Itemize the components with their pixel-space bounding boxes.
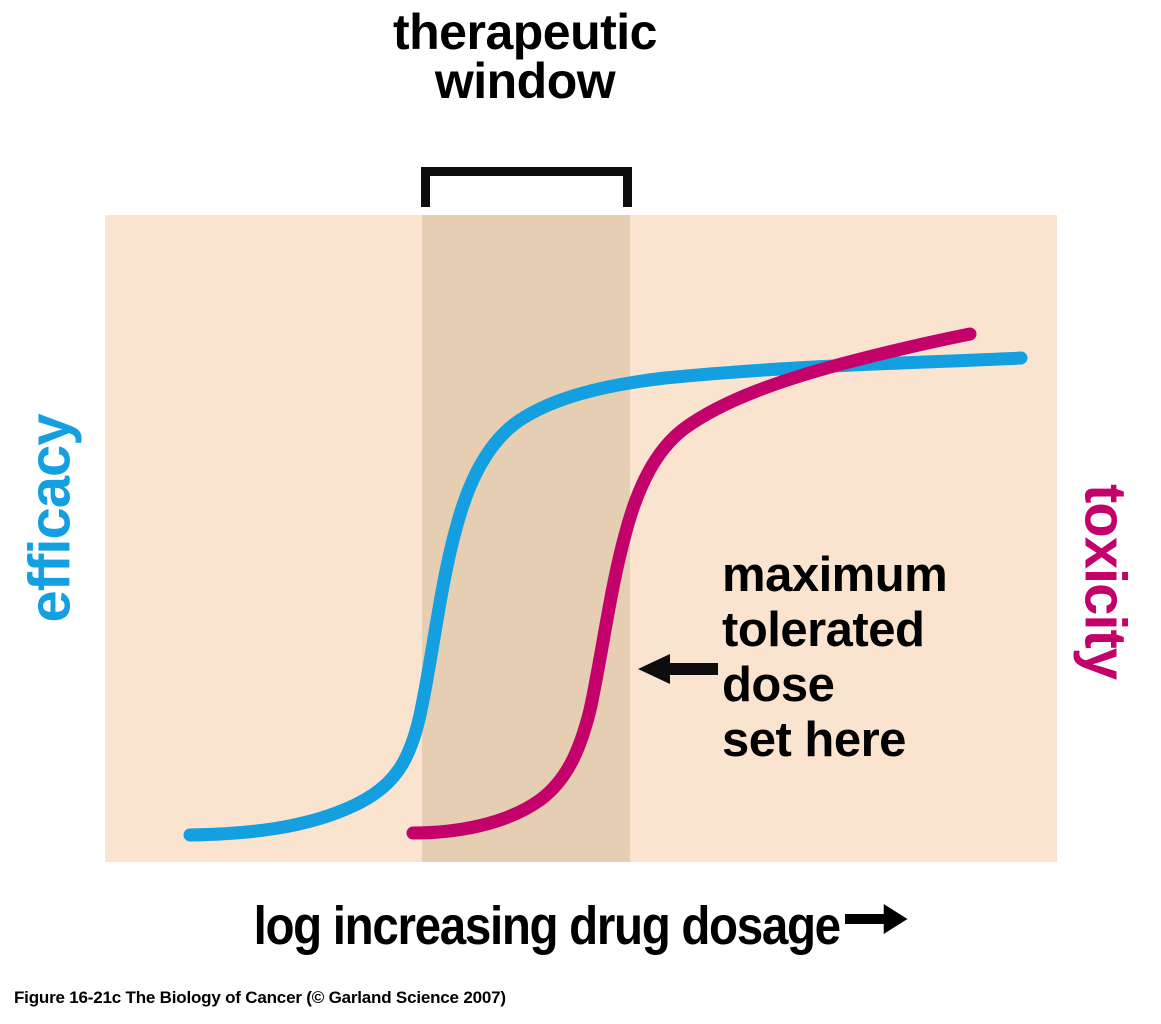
mtd-annotation-line-2: tolerated — [722, 603, 1042, 658]
axis-label-toxicity: toxicity — [1072, 452, 1139, 712]
mtd-annotation-line-3: dose — [722, 658, 1042, 713]
figure-container: therapeutic window efficacy toxicity max… — [0, 0, 1161, 1024]
axis-label-efficacy: efficacy — [17, 389, 84, 649]
figure-credit: Figure 16-21c The Biology of Cancer (© G… — [14, 988, 506, 1008]
title-line-2: window — [290, 57, 760, 106]
x-axis-caption: log increasing drug dosage — [162, 885, 1000, 957]
figure-title: therapeutic window — [290, 8, 760, 106]
mtd-annotation: maximum tolerated dose set here — [722, 548, 1042, 768]
mtd-annotation-line-1: maximum — [722, 548, 1042, 603]
therapeutic-window-bracket — [421, 167, 632, 207]
x-axis-caption-text: log increasing drug dosage — [254, 896, 840, 956]
right-arrow-icon — [845, 885, 908, 947]
mtd-annotation-line-4: set here — [722, 713, 1042, 768]
left-arrow-icon — [636, 652, 720, 686]
title-line-1: therapeutic — [290, 8, 760, 57]
